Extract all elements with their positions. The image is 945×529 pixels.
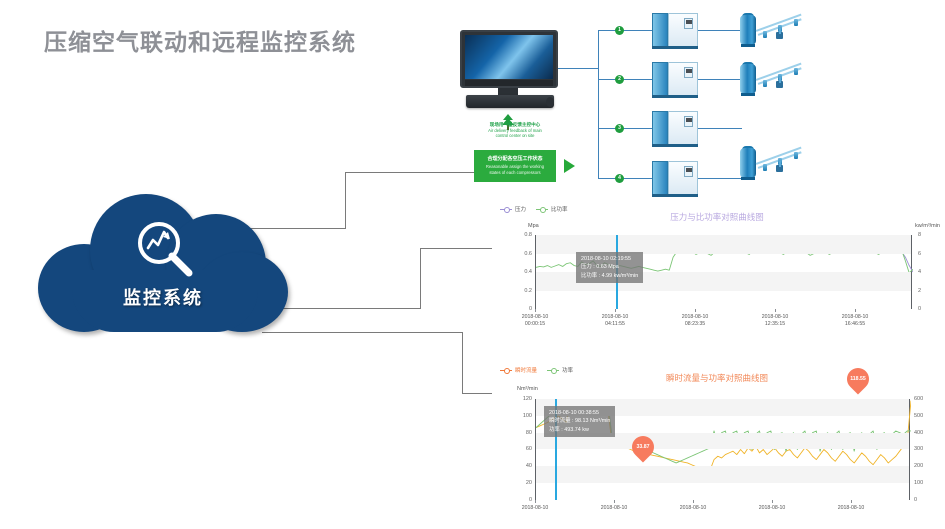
chart2-ytick: 120 — [500, 396, 532, 402]
xtick-time: 04:11:55 — [602, 321, 629, 328]
chart2-y-axis-unit: Nm³/min — [517, 386, 538, 392]
mouse-icon — [546, 97, 554, 107]
marker-label: 118.55 — [847, 368, 869, 390]
compressor-right-panel — [668, 13, 698, 47]
chart1-ytick: 0.6 — [506, 251, 532, 257]
compressor-right-panel — [668, 111, 698, 145]
pipe-drop — [779, 77, 781, 83]
xtick-date: 2018-08-10 — [759, 505, 786, 512]
tooltip-timestamp: 2018-08-10 02:19:55 — [581, 255, 638, 263]
pipe-valve — [763, 164, 767, 171]
compressor-base — [652, 194, 698, 197]
xtick-date: 2018-08-10 — [682, 314, 709, 321]
pipeline-group-2 — [756, 57, 806, 89]
air-tank-2 — [740, 62, 756, 96]
compressor-left-panel — [652, 161, 668, 195]
compressor-right-panel — [668, 161, 698, 195]
chart2-title: 瞬时流量与功率对照曲线图 — [492, 372, 942, 384]
xtick-mark — [851, 500, 852, 503]
chart2-xtick: 2018-08-10 — [838, 505, 865, 512]
monitor-chin — [465, 80, 553, 86]
bus-branch-2 — [598, 79, 654, 80]
xtick-date: 2018-08-10 — [522, 314, 549, 321]
xtick-mark — [535, 500, 536, 503]
tooltip-line-1: 瞬时流量 : 98.13 Nm³/min — [549, 417, 610, 425]
xtick-mark — [695, 309, 696, 312]
connector-line-bottom-h1 — [262, 332, 463, 333]
pipe-valve — [794, 152, 798, 159]
chart1-ytick: 0.8 — [506, 232, 532, 238]
pipe-drop — [779, 28, 781, 34]
flow-power-chart: 瞬时流量 功率 瞬时流量与功率对照曲线图 Nm³/min 120 100 80 … — [492, 364, 942, 526]
xtick-mark — [615, 309, 616, 312]
connector-line-mid-h1 — [268, 308, 421, 309]
compressor-control-panel — [684, 18, 693, 29]
chart1-ytick: 0.4 — [506, 269, 532, 275]
chart1-xtick: 2018-08-10 12:35:15 — [762, 314, 789, 327]
chart1-ytick-right: 6 — [918, 251, 938, 257]
chart2-tooltip: 2018-08-10 00:38:55 瞬时流量 : 98.13 Nm³/min… — [544, 406, 615, 437]
xtick-time: 08:23:35 — [682, 321, 709, 328]
compressor-2 — [652, 62, 698, 98]
xtick-date: 2018-08-10 — [602, 314, 629, 321]
chart1-ytick-right: 0 — [918, 306, 938, 312]
chart2-marker-low[interactable]: 33.87 — [627, 431, 658, 462]
pipe-valve — [763, 80, 767, 87]
node-dot-2: 2 — [615, 75, 624, 84]
chart1-ytick: 0.2 — [506, 288, 532, 294]
compressor-base — [652, 95, 698, 98]
xtick-time: 16:46:55 — [842, 321, 869, 328]
pressure-specific-power-chart: 压力 比功率 压力与比功率对照曲线图 Mpa kw/m³/min 0.8 0.6… — [492, 203, 942, 333]
pipe-valve — [763, 31, 767, 38]
chart1-y-axis-unit: Mpa — [528, 223, 539, 229]
chart2-xtick: 2018-08-10 — [601, 505, 628, 512]
pipe-drop — [779, 161, 781, 167]
pipe-valve — [794, 68, 798, 75]
chart1-title: 压力与比功率对照曲线图 — [492, 211, 942, 223]
xtick-mark — [535, 309, 536, 312]
chart2-ytick-right: 300 — [914, 446, 936, 452]
xtick-time: 12:35:15 — [762, 321, 789, 328]
pipeline-group-3 — [756, 141, 806, 173]
compressor-left-panel — [652, 13, 668, 47]
chart2-xtick: 2018-08-10 — [759, 505, 786, 512]
chart1-ytick-right: 2 — [918, 288, 938, 294]
system-schematic: 现场用气量反馈主控中心 Air delivery feedback of mai… — [440, 18, 945, 200]
tooltip-line-1: 压力 : 0.63 Mpa — [581, 263, 638, 271]
chart1-ytick-right: 4 — [918, 269, 938, 275]
compressor-4 — [652, 161, 698, 197]
page-title: 压缩空气联动和远程监控系统 — [44, 23, 356, 57]
right-arrow-icon — [564, 159, 575, 173]
xtick-time: 00:00:15 — [522, 321, 549, 328]
green-box-en-line2: states of each compressors — [489, 170, 540, 175]
compressor-control-panel — [684, 67, 693, 78]
chart1-ytick: 0 — [506, 306, 532, 312]
compressor-1 — [652, 13, 698, 49]
compressor-left-panel — [652, 62, 668, 96]
monitor-screen-image — [465, 35, 553, 79]
compressor-base — [652, 144, 698, 147]
chart2-ytick: 80 — [500, 430, 532, 436]
desktop-monitor-icon — [460, 30, 558, 110]
magnifier-chart-icon — [134, 218, 196, 280]
xtick-mark — [775, 309, 776, 312]
compressor-3 — [652, 111, 698, 147]
bus-branch-1 — [598, 30, 654, 31]
compressor-right-panel — [668, 62, 698, 96]
tooltip-line-2: 比功率 : 4.99 kw/m³/min — [581, 272, 638, 280]
chart2-marker-high[interactable]: 118.55 — [842, 363, 873, 394]
plot-band — [536, 235, 911, 254]
chart2-ytick: 100 — [500, 413, 532, 419]
cloud-label: 监控系统 — [38, 284, 288, 310]
xtick-mark — [693, 500, 694, 503]
connector-line-mid-h2 — [420, 248, 492, 249]
chart1-xtick: 2018-08-10 16:46:55 — [842, 314, 869, 327]
xtick-date: 2018-08-10 — [762, 314, 789, 321]
marker-label: 33.87 — [632, 436, 654, 458]
xtick-mark — [772, 500, 773, 503]
bus-out-3 — [698, 128, 742, 129]
chart1-y-axis-unit-right: kw/m³/min — [915, 223, 940, 229]
xtick-date: 2018-08-10 — [680, 505, 707, 512]
connector-line-bottom-v — [462, 332, 463, 394]
caption-en-line2: control center on site — [470, 133, 560, 138]
air-tank-3 — [740, 146, 756, 180]
xtick-date: 2018-08-10 — [838, 505, 865, 512]
chart1-ytick-right: 8 — [918, 232, 938, 238]
tank-body — [740, 64, 756, 94]
tank-body — [740, 148, 756, 178]
bus-out-2 — [698, 79, 742, 80]
chart1-xtick: 2018-08-10 08:23:35 — [682, 314, 709, 327]
air-tank-1 — [740, 13, 756, 47]
xtick-date: 2018-08-10 — [601, 505, 628, 512]
tank-foot — [741, 44, 755, 47]
chart2-ytick: 0 — [500, 497, 532, 503]
xtick-date: 2018-08-10 — [522, 505, 549, 512]
xtick-mark — [855, 309, 856, 312]
bus-out-4 — [698, 178, 742, 179]
slide-canvas: 压缩空气联动和远程监控系统 监控系统 — [0, 0, 945, 529]
green-box-cn: 合理分配各空压工作状态 — [487, 156, 542, 163]
bus-branch-4 — [598, 178, 654, 179]
connector-line-mid-v — [420, 248, 421, 309]
chart2-ytick: 60 — [500, 446, 532, 452]
tooltip-line-2: 功率 : 493.74 kw — [549, 426, 610, 434]
monitor-screen — [460, 30, 558, 88]
chart1-xtick: 2018-08-10 04:11:55 — [602, 314, 629, 327]
compressor-left-panel — [652, 111, 668, 145]
node-dot-1: 1 — [615, 26, 624, 35]
chart2-xtick: 2018-08-10 — [680, 505, 707, 512]
tank-foot — [741, 93, 755, 96]
tank-foot — [741, 177, 755, 180]
compressor-base — [652, 46, 698, 49]
pipe-valve — [794, 19, 798, 26]
plot-band — [536, 466, 909, 483]
chart2-ytick-right: 600 — [914, 396, 936, 402]
node-dot-3: 3 — [615, 124, 624, 133]
chart1-xtick: 2018-08-10 00:00:15 — [522, 314, 549, 327]
node-dot-4: 4 — [615, 174, 624, 183]
green-box-en-line1: Reasonable assign the working — [486, 164, 544, 169]
tooltip-timestamp: 2018-08-10 00:38:55 — [549, 409, 610, 417]
compressor-control-panel — [684, 116, 693, 127]
pipeline-group-1 — [756, 8, 806, 40]
chart1-tooltip: 2018-08-10 02:19:55 压力 : 0.63 Mpa 比功率 : … — [576, 252, 643, 283]
chart2-ytick-right: 100 — [914, 480, 936, 486]
chart2-ytick-right: 0 — [914, 497, 936, 503]
control-center-caption: 现场用气量反馈主控中心 Air delivery feedback of mai… — [470, 122, 560, 138]
bus-trunk-vertical — [598, 30, 599, 178]
chart2-ytick-right: 400 — [914, 430, 936, 436]
chart2-ytick-right: 500 — [914, 413, 936, 419]
chart2-ytick: 20 — [500, 480, 532, 486]
xtick-date: 2018-08-10 — [842, 314, 869, 321]
xtick-mark — [614, 500, 615, 503]
monitoring-system-cloud[interactable]: 监控系统 — [38, 192, 288, 332]
tank-body — [740, 15, 756, 45]
bus-out-1 — [698, 30, 742, 31]
connector-line-bottom-h2 — [462, 393, 492, 394]
connector-line-top-v — [345, 172, 346, 229]
keyboard-icon — [466, 95, 554, 108]
compressor-control-panel — [684, 166, 693, 177]
assign-working-state-box: 合理分配各空压工作状态 Reasonable assign the workin… — [474, 150, 556, 182]
bus-monitor-to-trunk — [558, 68, 598, 69]
bus-branch-3 — [598, 128, 654, 129]
chart2-xtick: 2018-08-10 — [522, 505, 549, 512]
chart2-ytick: 40 — [500, 463, 532, 469]
chart2-ytick-right: 200 — [914, 463, 936, 469]
